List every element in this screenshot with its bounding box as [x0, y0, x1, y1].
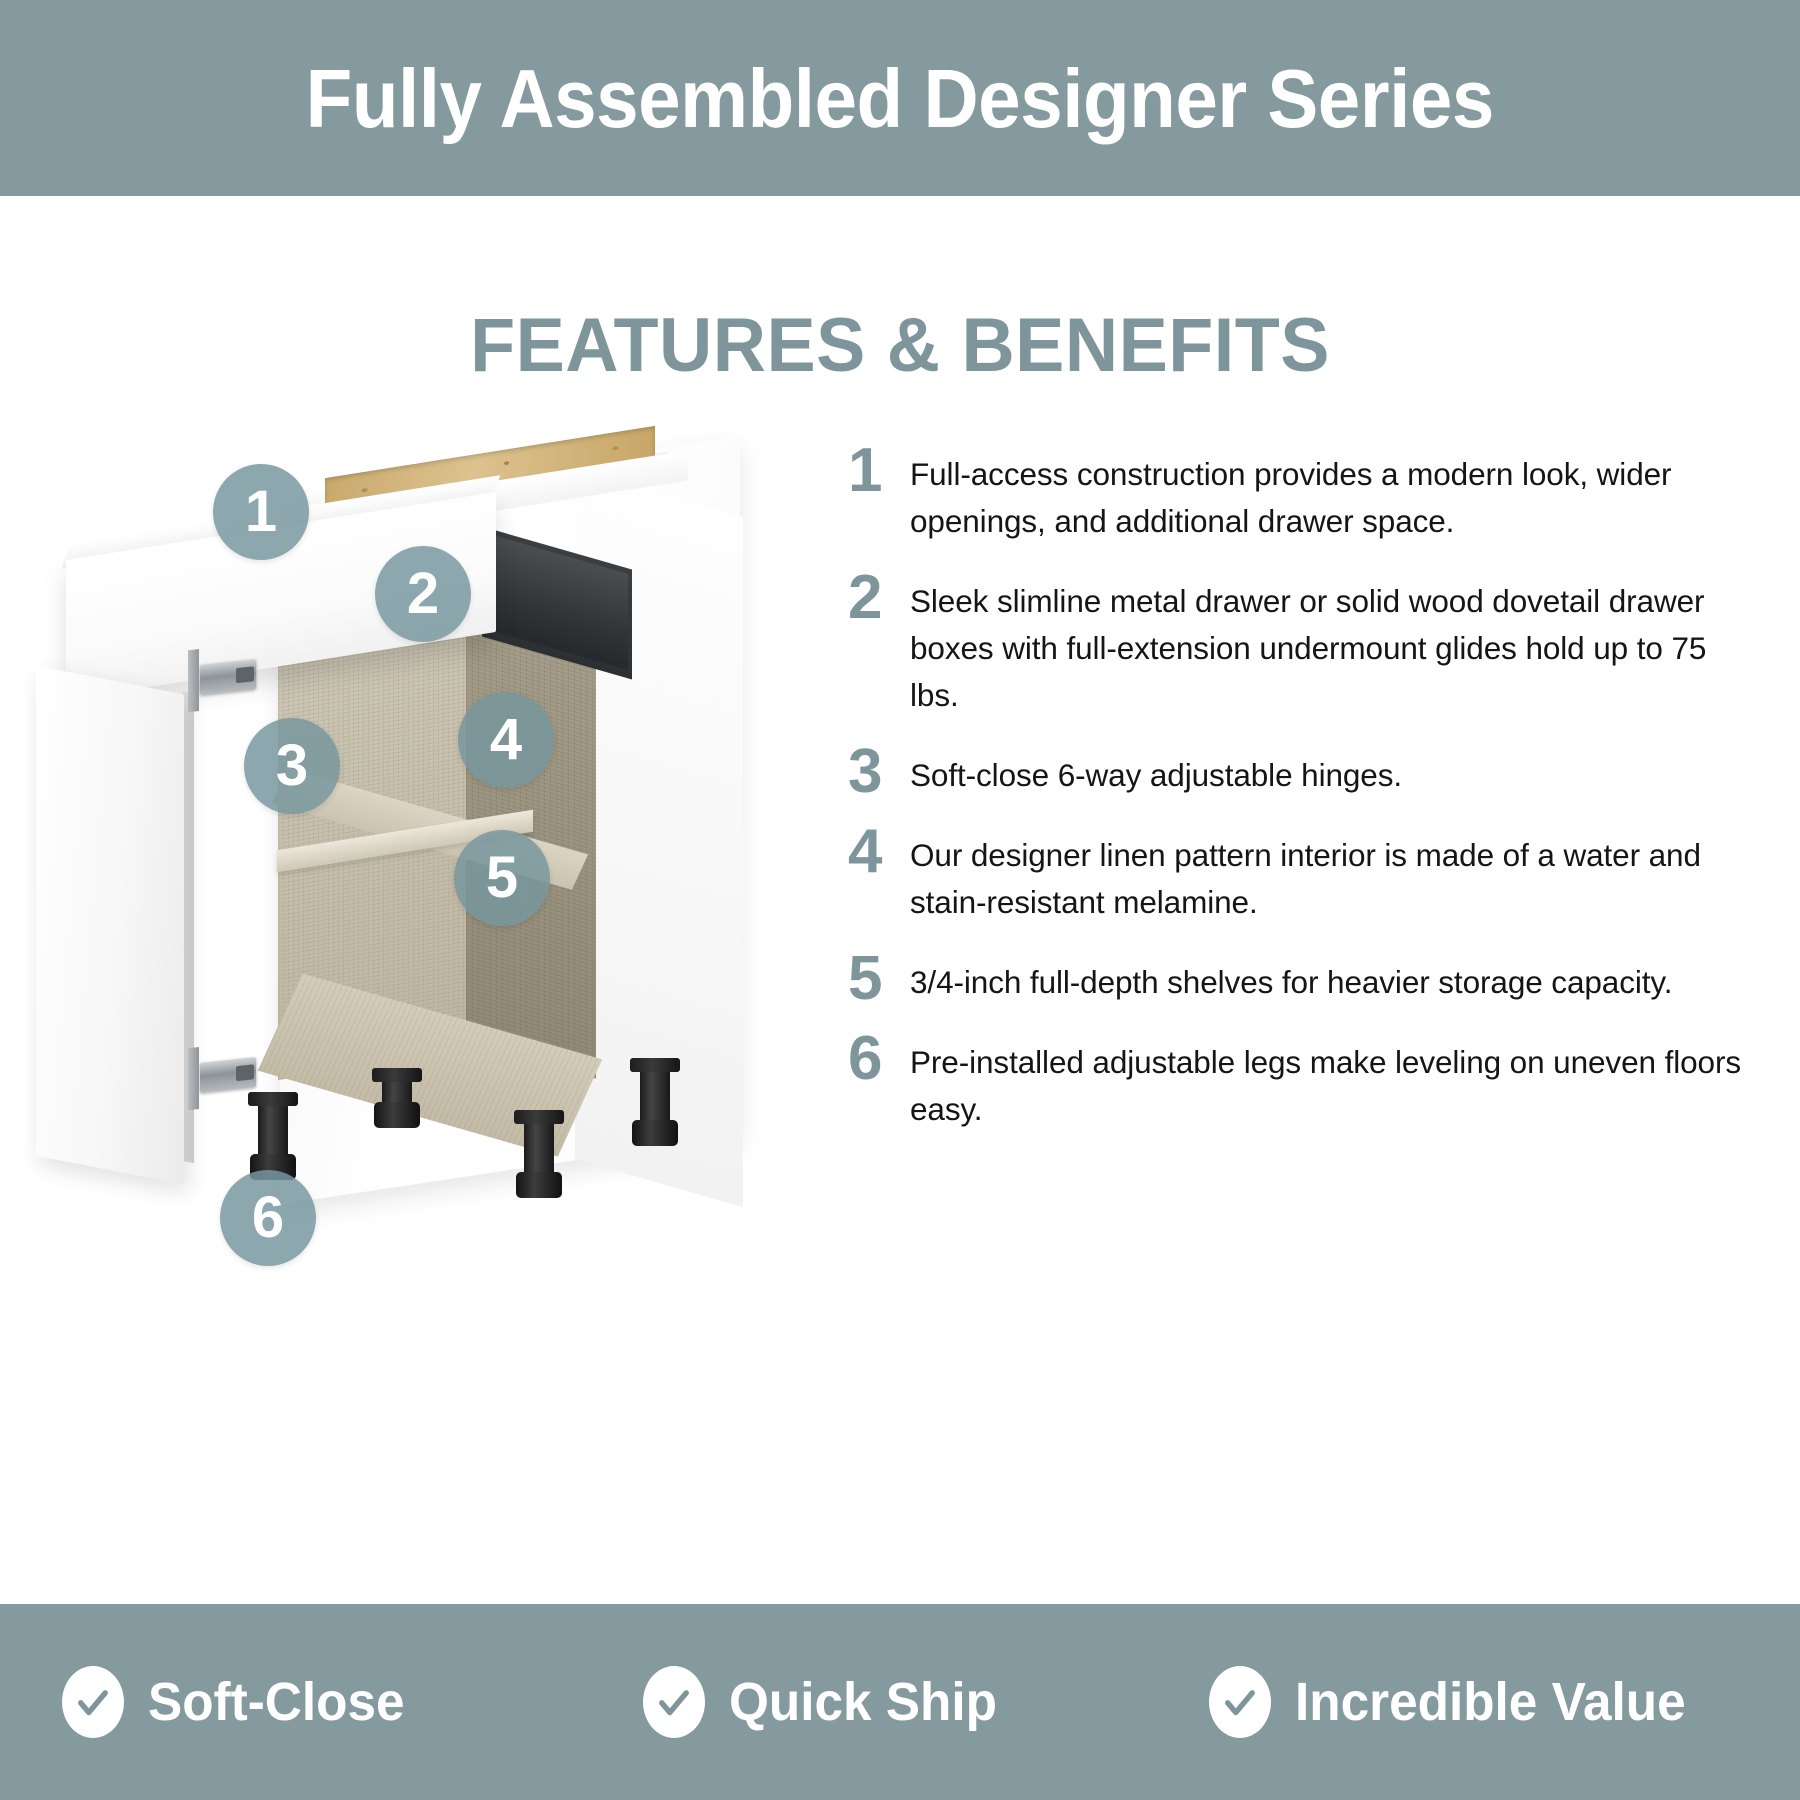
feature-item-2: 2 Sleek slimline metal drawer or solid w…	[848, 569, 1760, 719]
footer-band: Soft-Close Quick Ship Incredible Value	[0, 1604, 1800, 1800]
infographic-page: Fully Assembled Designer Series FEATURES…	[0, 0, 1800, 1800]
feature-item-5: 5 3/4-inch full-depth shelves for heavie…	[848, 950, 1760, 1006]
body-area: FEATURES & BENEFITS	[0, 196, 1800, 1604]
callout-marker-3: 3	[244, 718, 340, 814]
check-circle-icon	[1209, 1666, 1271, 1738]
content-row: 1 2 3 4 5 6 1 Full-access construction p…	[0, 430, 1800, 1310]
callout-marker-6: 6	[220, 1170, 316, 1266]
feature-number-2: 2	[848, 569, 910, 625]
adjustable-leg-back-left	[382, 1078, 412, 1122]
features-list: 1 Full-access construction provides a mo…	[830, 430, 1760, 1157]
footer-label-soft-close: Soft-Close	[148, 1675, 405, 1729]
product-image-panel: 1 2 3 4 5 6	[30, 430, 830, 1310]
feature-text-6: Pre-installed adjustable legs make level…	[910, 1030, 1760, 1133]
footer-label-quick-ship: Quick Ship	[729, 1675, 997, 1729]
footer-item-incredible-value: Incredible Value	[1179, 1666, 1738, 1738]
check-circle-icon	[643, 1666, 705, 1738]
feature-text-3: Soft-close 6-way adjustable hinges.	[910, 743, 1760, 799]
feature-item-1: 1 Full-access construction provides a mo…	[848, 442, 1760, 545]
cabinet-illustration: 1 2 3 4 5 6	[30, 430, 830, 1310]
header-band: Fully Assembled Designer Series	[0, 0, 1800, 196]
feature-text-5: 3/4-inch full-depth shelves for heavier …	[910, 950, 1760, 1006]
footer-label-incredible-value: Incredible Value	[1295, 1675, 1686, 1729]
page-title: Fully Assembled Designer Series	[306, 57, 1494, 140]
feature-text-2: Sleek slimline metal drawer or solid woo…	[910, 569, 1760, 719]
feature-item-3: 3 Soft-close 6-way adjustable hinges.	[848, 743, 1760, 799]
callout-marker-4: 4	[458, 692, 554, 788]
feature-number-6: 6	[848, 1030, 910, 1086]
cabinet-door	[36, 666, 184, 1185]
soft-close-hinge-lower	[200, 1057, 256, 1093]
feature-number-5: 5	[848, 950, 910, 1006]
footer-item-soft-close: Soft-Close	[62, 1666, 621, 1738]
adjustable-leg-front-left	[258, 1102, 288, 1174]
feature-number-4: 4	[848, 823, 910, 879]
callout-marker-5: 5	[454, 830, 550, 926]
feature-text-1: Full-access construction provides a mode…	[910, 442, 1760, 545]
footer-item-quick-ship: Quick Ship	[621, 1666, 1180, 1738]
soft-close-hinge-upper	[200, 659, 256, 695]
feature-item-6: 6 Pre-installed adjustable legs make lev…	[848, 1030, 1760, 1133]
feature-item-4: 4 Our designer linen pattern interior is…	[848, 823, 1760, 926]
section-title: FEATURES & BENEFITS	[27, 308, 1773, 384]
feature-number-3: 3	[848, 743, 910, 799]
feature-text-4: Our designer linen pattern interior is m…	[910, 823, 1760, 926]
check-circle-icon	[62, 1666, 124, 1738]
feature-number-1: 1	[848, 442, 910, 498]
callout-marker-2: 2	[375, 546, 471, 642]
adjustable-leg-front-right	[524, 1120, 554, 1192]
callout-marker-1: 1	[213, 464, 309, 560]
adjustable-leg-back-right	[640, 1068, 670, 1140]
